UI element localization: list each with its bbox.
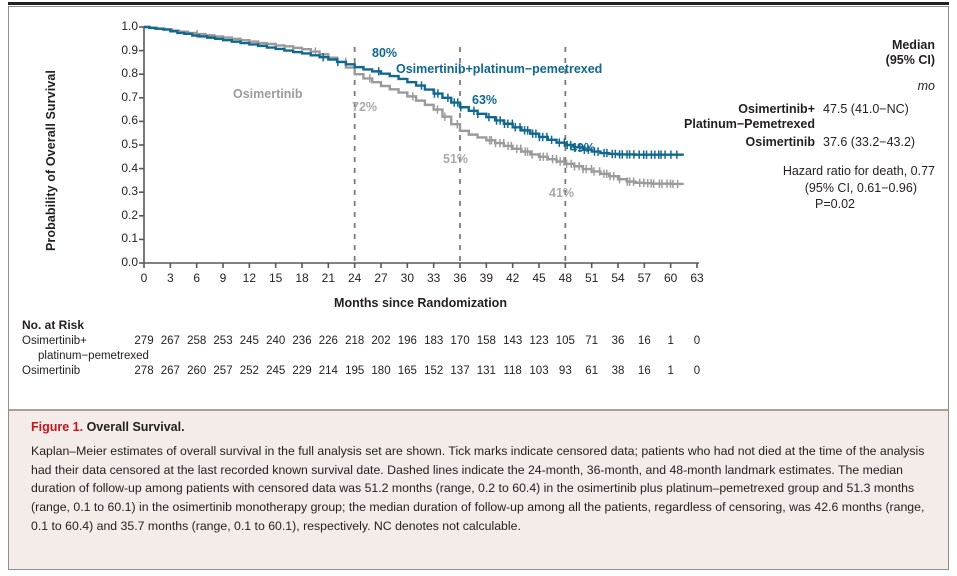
landmark-percent-label: 80%	[372, 46, 397, 60]
risk-count: 158	[473, 335, 499, 347]
risk-count: 229	[289, 365, 315, 377]
median-heading-line1: Median	[635, 38, 935, 53]
risk-count: 240	[263, 335, 289, 347]
hazard-ratio-line: Hazard ratio for death, 0.77	[635, 163, 935, 179]
y-tick-label: 0.6	[98, 113, 138, 127]
risk-count: 131	[473, 365, 499, 377]
x-tick-label: 48	[551, 271, 579, 285]
risk-count: 137	[447, 365, 473, 377]
landmark-percent-label: 41%	[549, 186, 574, 200]
risk-count: 38	[605, 365, 631, 377]
risk-count: 202	[368, 335, 394, 347]
y-tick-label: 0.4	[98, 161, 138, 175]
x-tick-label: 3	[156, 271, 184, 285]
x-tick-label: 9	[209, 271, 237, 285]
risk-count: 236	[289, 335, 315, 347]
risk-row: Osimertinib27826726025725224522921419518…	[22, 365, 712, 380]
median-unit: mo	[635, 79, 935, 93]
stat-value-combination: 47.5 (41.0−NC)	[823, 102, 935, 116]
risk-count: 71	[579, 335, 605, 347]
stat-value-monotherapy: 37.6 (33.2−43.2)	[823, 135, 935, 149]
x-tick-label: 21	[314, 271, 342, 285]
risk-row-continuation: platinum−pemetrexed	[22, 350, 712, 365]
risk-row: Osimertinib+2792672582532452402362262182…	[22, 335, 712, 350]
caption-title-line: Figure 1. Overall Survival.	[31, 420, 926, 435]
risk-count: 183	[421, 335, 447, 347]
caption-figure-number: Figure 1.	[31, 420, 83, 434]
risk-count: 279	[131, 335, 157, 347]
risk-count: 36	[605, 335, 631, 347]
risk-count: 195	[342, 365, 368, 377]
x-tick-label: 54	[604, 271, 632, 285]
y-tick-label: 0.9	[98, 43, 138, 57]
stat-arm-combination-line2: Platinum−Pemetrexed	[684, 117, 815, 132]
hazard-ratio-pvalue: P=0.02	[635, 196, 935, 212]
x-tick-label: 39	[472, 271, 500, 285]
risk-row-label-line2: platinum−pemetrexed	[22, 350, 149, 362]
x-tick-label: 30	[393, 271, 421, 285]
series-label-monotherapy: Osimertinib	[233, 87, 302, 101]
landmark-percent-label: 63%	[472, 93, 497, 107]
series-label-combination: Osimertinib+platinum−pemetrexed	[396, 62, 602, 76]
risk-count: 1	[658, 365, 684, 377]
risk-count: 252	[236, 365, 262, 377]
y-tick-label: 0.5	[98, 137, 138, 151]
y-tick-label: 0.2	[98, 208, 138, 222]
risk-count: 16	[631, 365, 657, 377]
hazard-ratio-ci: (95% CI, 0.61−0.96)	[635, 180, 935, 196]
caption-body: Kaplan–Meier estimates of overall surviv…	[31, 442, 926, 535]
x-tick-label: 27	[367, 271, 395, 285]
risk-row-label: Osimertinib	[22, 365, 80, 377]
number-at-risk-table: No. at Risk Osimertinib+2792672582532452…	[22, 318, 712, 380]
median-statistics-panel: Median (95% CI) mo Osimertinib+ Platinum…	[635, 38, 935, 212]
risk-row-label: Osimertinib+	[22, 335, 87, 347]
stat-arm-combination: Osimertinib+ Platinum−Pemetrexed	[684, 102, 823, 133]
stat-row-monotherapy: Osimertinib 37.6 (33.2−43.2)	[635, 135, 935, 150]
risk-count: 267	[157, 335, 183, 347]
median-heading-line2: (95% CI)	[635, 53, 935, 68]
y-tick-label: 1.0	[98, 19, 138, 33]
risk-count: 93	[552, 365, 578, 377]
risk-count: 245	[236, 335, 262, 347]
number-at-risk-rows: Osimertinib+2792672582532452402362262182…	[22, 335, 712, 380]
median-heading: Median (95% CI)	[635, 38, 935, 69]
x-tick-label: 42	[499, 271, 527, 285]
risk-count: 1	[658, 335, 684, 347]
risk-count: 123	[526, 335, 552, 347]
x-tick-label: 24	[341, 271, 369, 285]
y-tick-label: 0.7	[98, 90, 138, 104]
figure-caption: Figure 1. Overall Survival. Kaplan–Meier…	[9, 409, 948, 569]
risk-count: 152	[421, 365, 447, 377]
landmark-percent-label: 72%	[352, 100, 377, 114]
risk-count: 0	[684, 365, 710, 377]
risk-count: 105	[552, 335, 578, 347]
y-tick-label: 0.8	[98, 66, 138, 80]
risk-count: 226	[315, 335, 341, 347]
number-at-risk-title: No. at Risk	[22, 318, 712, 332]
x-axis-title: Months since Randomization	[144, 296, 697, 310]
risk-count: 196	[394, 335, 420, 347]
caption-figure-title: Overall Survival.	[87, 420, 185, 434]
risk-count: 0	[684, 335, 710, 347]
x-tick-label: 51	[578, 271, 606, 285]
x-tick-label: 36	[446, 271, 474, 285]
risk-count: 218	[342, 335, 368, 347]
x-tick-label: 45	[525, 271, 553, 285]
risk-count: 165	[394, 365, 420, 377]
x-tick-label: 0	[130, 271, 158, 285]
x-tick-label: 60	[657, 271, 685, 285]
x-tick-label: 57	[630, 271, 658, 285]
x-tick-label: 33	[420, 271, 448, 285]
risk-count: 16	[631, 335, 657, 347]
landmark-percent-label: 51%	[443, 152, 468, 166]
stat-row-combination: Osimertinib+ Platinum−Pemetrexed 47.5 (4…	[635, 102, 935, 133]
landmark-percent-label: 49%	[570, 141, 595, 155]
risk-count: 170	[447, 335, 473, 347]
risk-count: 267	[157, 365, 183, 377]
y-tick-label: 0.1	[98, 231, 138, 245]
y-tick-label: 0.0	[98, 255, 138, 269]
x-tick-label: 63	[683, 271, 711, 285]
risk-count: 143	[500, 335, 526, 347]
risk-count: 214	[315, 365, 341, 377]
risk-count: 61	[579, 365, 605, 377]
hazard-ratio-block: Hazard ratio for death, 0.77 (95% CI, 0.…	[635, 163, 935, 212]
x-tick-label: 18	[288, 271, 316, 285]
risk-count: 180	[368, 365, 394, 377]
risk-count: 253	[210, 335, 236, 347]
risk-count: 258	[184, 335, 210, 347]
stat-arm-monotherapy: Osimertinib	[746, 135, 823, 150]
x-tick-label: 15	[262, 271, 290, 285]
risk-count: 278	[131, 365, 157, 377]
figure-root: Probability of Overall Survival Months s…	[0, 0, 957, 576]
y-tick-label: 0.3	[98, 184, 138, 198]
y-axis-title: Probability of Overall Survival	[44, 70, 58, 251]
risk-count: 103	[526, 365, 552, 377]
risk-count: 257	[210, 365, 236, 377]
stat-arm-combination-line1: Osimertinib+	[684, 102, 815, 117]
risk-count: 118	[500, 365, 526, 377]
x-tick-label: 12	[235, 271, 263, 285]
risk-count: 260	[184, 365, 210, 377]
x-tick-label: 6	[183, 271, 211, 285]
risk-count: 245	[263, 365, 289, 377]
